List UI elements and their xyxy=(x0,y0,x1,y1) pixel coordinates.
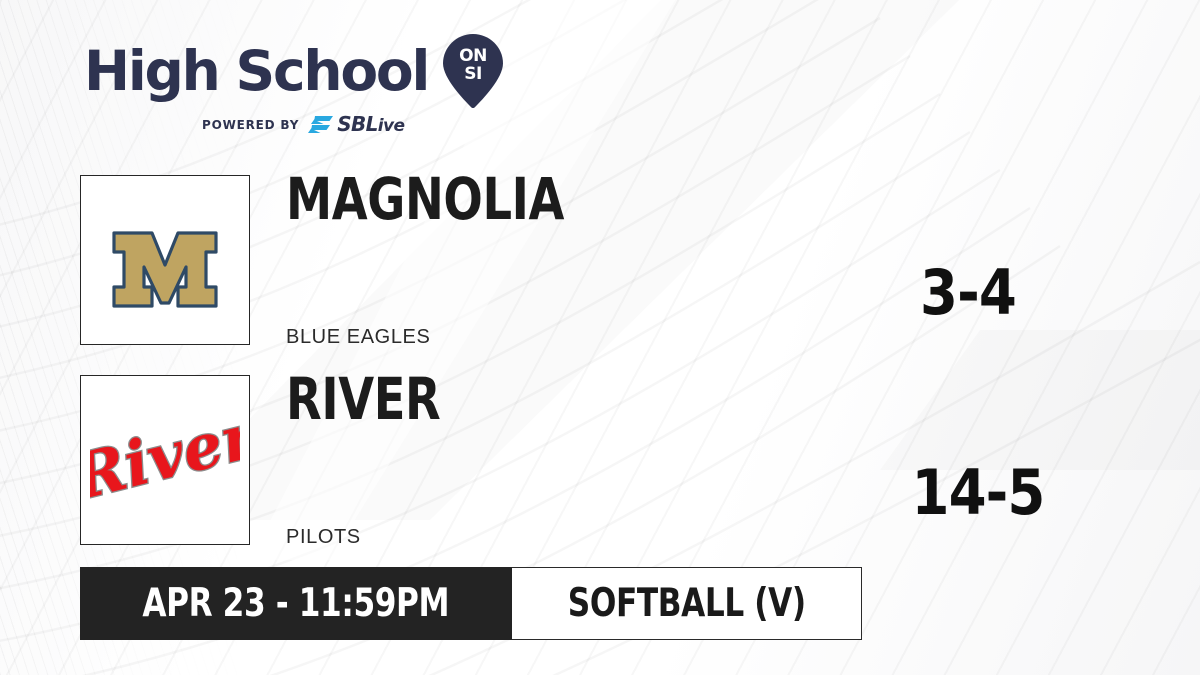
game-sport-panel: SOFTBALL (V) xyxy=(512,567,863,640)
brand-wordmark: High School xyxy=(84,44,428,99)
location-pin-icon: ON SI xyxy=(442,33,504,109)
river-script-logo: River xyxy=(90,400,240,520)
away-team-name: MAGNOLIA xyxy=(286,171,734,228)
sblive-s-mark-icon xyxy=(308,115,334,135)
brand-lockup: High School ON SI POWERED BY SBLive xyxy=(84,33,514,135)
powered-by-label: POWERED BY xyxy=(202,118,299,132)
matchup-card: High School ON SI POWERED BY SBLive xyxy=(0,0,1200,675)
home-team-row: River RIVER PILOTS xyxy=(80,375,846,545)
sblive-wordmark-lower: ive xyxy=(378,116,405,136)
home-team-name: RIVER xyxy=(286,371,734,428)
game-datetime-panel: APR 23 - 11:59PM xyxy=(80,567,512,640)
away-team-mascot: BLUE EAGLES xyxy=(286,326,430,349)
game-sport-text: SOFTBALL (V) xyxy=(567,584,805,623)
sblive-wordmark-upper: SBL xyxy=(337,112,378,136)
game-datetime-text: APR 23 - 11:59PM xyxy=(142,584,449,623)
svg-text:River: River xyxy=(90,400,240,515)
home-team-text: RIVER PILOTS xyxy=(286,375,846,545)
svg-text:SI: SI xyxy=(464,64,482,84)
home-team-record: 14-5 xyxy=(821,462,1134,524)
sblive-logo: SBLive xyxy=(308,114,404,135)
away-team-record: 3-4 xyxy=(811,262,1124,324)
brand-title-row: High School ON SI xyxy=(84,33,514,109)
magnolia-block-m-logo xyxy=(100,195,230,325)
powered-by-row: POWERED BY SBLive xyxy=(84,114,514,135)
away-team-logo-box xyxy=(80,175,250,345)
away-team-text: MAGNOLIA BLUE EAGLES xyxy=(286,175,846,345)
svg-text:ON: ON xyxy=(459,46,487,66)
home-team-mascot: PILOTS xyxy=(286,526,361,549)
home-team-logo-box: River xyxy=(80,375,250,545)
sblive-wordmark: SBLive xyxy=(337,114,404,135)
away-team-row: MAGNOLIA BLUE EAGLES xyxy=(80,175,846,345)
game-info-bar: APR 23 - 11:59PM SOFTBALL (V) xyxy=(80,567,862,640)
